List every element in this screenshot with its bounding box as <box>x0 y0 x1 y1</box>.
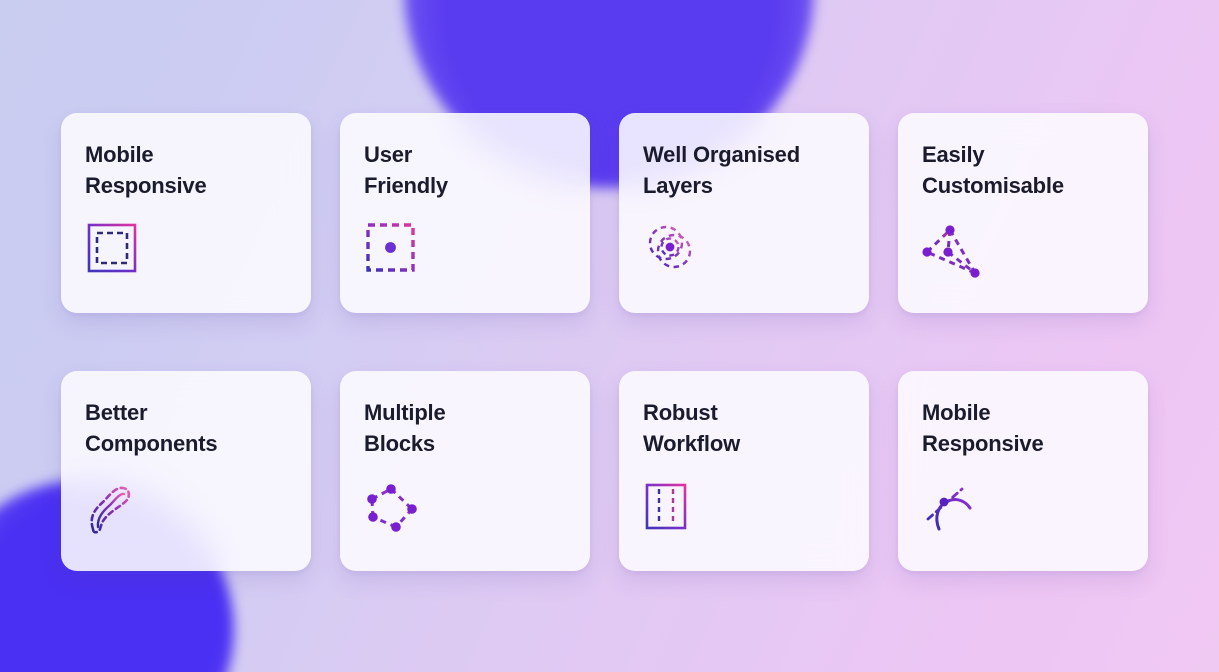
feature-card-grid: Mobile Responsive User Friendly <box>61 113 1157 571</box>
card-title: User Friendly <box>364 139 566 201</box>
page-canvas: Mobile Responsive User Friendly <box>0 0 1219 672</box>
feature-card-user-friendly[interactable]: User Friendly <box>340 113 590 313</box>
feature-card-multiple-blocks[interactable]: Multiple Blocks <box>340 371 590 571</box>
card-title: Better Components <box>85 397 287 459</box>
feature-card-well-organised-layers[interactable]: Well Organised Layers <box>619 113 869 313</box>
card-title: Well Organised Layers <box>643 139 845 201</box>
bezier-curve-handle-icon <box>922 477 986 539</box>
card-title: Easily Customisable <box>922 139 1124 201</box>
rectangle-columns-guides-icon <box>643 477 707 539</box>
feature-card-better-components[interactable]: Better Components <box>61 371 311 571</box>
square-frame-dashed-inner-icon <box>85 219 149 281</box>
feature-card-easily-customisable[interactable]: Easily Customisable <box>898 113 1148 313</box>
dashed-square-center-dot-icon <box>364 219 428 281</box>
card-title: Robust Workflow <box>643 397 845 459</box>
card-title: Multiple Blocks <box>364 397 566 459</box>
orbit-atom-dashed-circles-icon <box>643 219 707 281</box>
pentagon-nodes-dashed-icon <box>364 477 428 539</box>
triangle-nodes-dashed-icon <box>922 219 986 281</box>
card-title: Mobile Responsive <box>922 397 1124 459</box>
card-title: Mobile Responsive <box>85 139 287 201</box>
feature-card-robust-workflow[interactable]: Robust Workflow <box>619 371 869 571</box>
curved-boomerang-outline-icon <box>85 477 149 539</box>
feature-card-mobile-responsive[interactable]: Mobile Responsive <box>61 113 311 313</box>
feature-card-mobile-responsive-2[interactable]: Mobile Responsive <box>898 371 1148 571</box>
